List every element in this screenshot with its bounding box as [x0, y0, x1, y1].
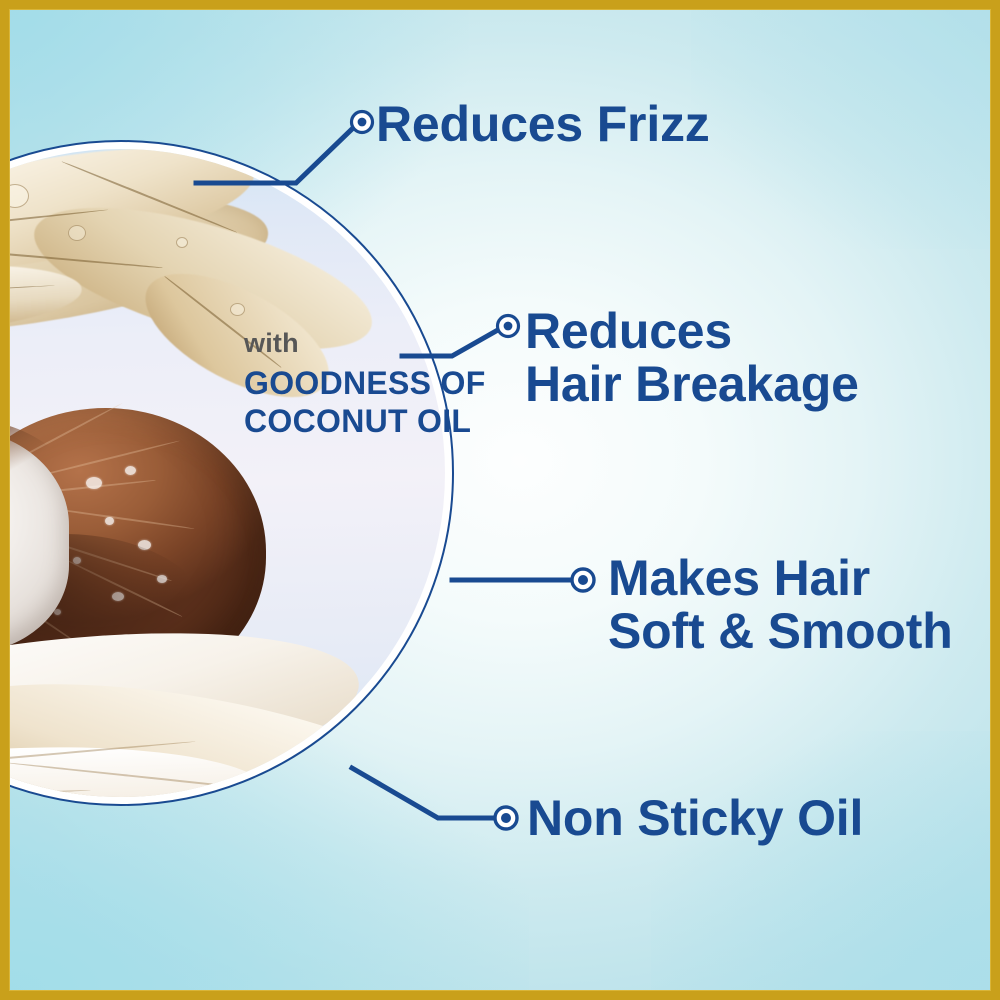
- background-tint-bottom-right: [651, 731, 991, 991]
- caption-headline: GOODNESS OF COCONUT OIL: [244, 365, 486, 441]
- product-circle: [0, 140, 454, 806]
- benefit-label-non-sticky-oil: Non Sticky Oil: [527, 792, 863, 845]
- product-caption: with GOODNESS OF COCONUT OIL: [244, 330, 486, 441]
- benefit-label-reduces-frizz: Reduces Frizz: [376, 98, 710, 151]
- coconut-milk-splash-image: [0, 603, 445, 797]
- product-benefits-poster: with GOODNESS OF COCONUT OIL: [0, 0, 1000, 1000]
- benefit-label-reduces-hair-breakage: Reduces Hair Breakage: [525, 305, 859, 411]
- caption-with-label: with: [244, 330, 486, 357]
- background-tint-top-right: [691, 9, 991, 249]
- benefit-label-makes-hair-soft-and-smooth: Makes Hair Soft & Smooth: [608, 552, 953, 658]
- product-circle-photo: [0, 149, 445, 797]
